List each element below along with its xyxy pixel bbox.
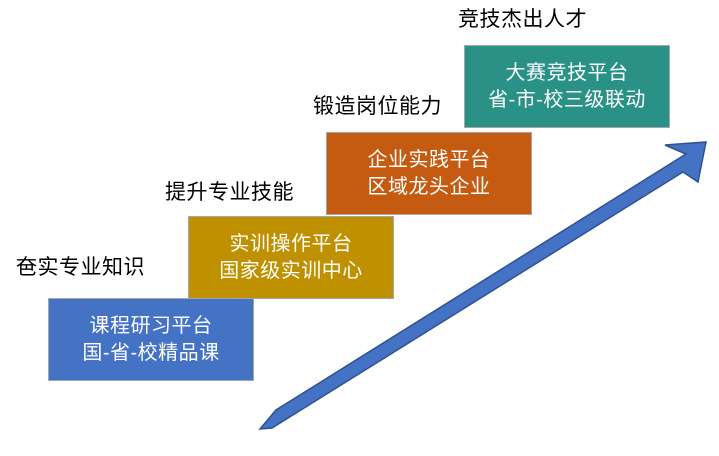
step-box-4-line2: 省-市-校三级联动 [488, 87, 646, 113]
step-box-1-line2: 国-省-校精品课 [82, 340, 219, 366]
step-box-2[interactable]: 实训操作平台 国家级实训中心 [188, 216, 394, 299]
step-label-2: 提升专业技能 [165, 181, 294, 205]
step-box-3-line1: 企业实践平台 [368, 147, 491, 173]
step-box-1-line1: 课程研习平台 [90, 313, 213, 339]
step-box-2-line1: 实训操作平台 [230, 231, 353, 257]
step-label-4: 竞技杰出人才 [458, 8, 587, 32]
step-box-1[interactable]: 课程研习平台 国-省-校精品课 [48, 298, 254, 381]
step-box-3-line2: 区域龙头企业 [368, 174, 491, 200]
step-box-2-line2: 国家级实训中心 [219, 258, 363, 284]
step-label-1: 夿实专业知识 [16, 256, 145, 280]
step-label-3: 锻造岗位能力 [313, 95, 442, 119]
diagram-canvas: 夿实专业知识 课程研习平台 国-省-校精品课 提升专业技能 实训操作平台 国家级… [0, 0, 719, 456]
step-box-4-line1: 大赛竞技平台 [506, 60, 629, 86]
step-box-3[interactable]: 企业实践平台 区域龙头企业 [326, 132, 532, 215]
step-box-4[interactable]: 大赛竞技平台 省-市-校三级联动 [464, 45, 670, 128]
